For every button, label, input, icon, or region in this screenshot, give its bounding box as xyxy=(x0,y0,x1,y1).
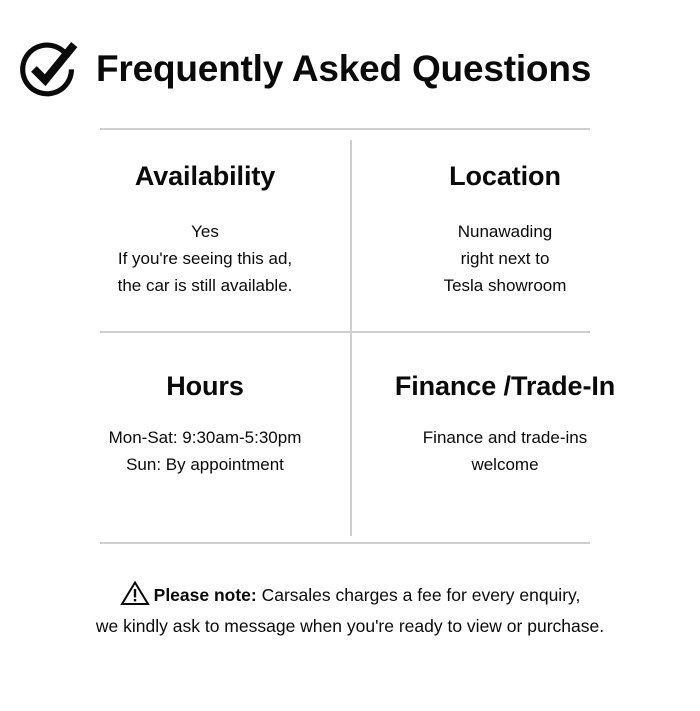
section-line: Nunawading xyxy=(355,218,655,245)
section-heading-hours: Hours xyxy=(55,372,355,402)
section-line: Finance and trade-ins xyxy=(355,424,655,451)
page-title: Frequently Asked Questions xyxy=(96,50,591,87)
divider-bottom xyxy=(100,542,590,544)
please-note-block: Please note: Carsales charges a fee for … xyxy=(0,580,700,642)
section-body-location: Nunawading right next to Tesla showroom xyxy=(355,218,655,299)
section-line: the car is still available. xyxy=(55,272,355,299)
section-heading-finance: Finance /Trade-In xyxy=(355,372,655,402)
section-line: Tesla showroom xyxy=(355,272,655,299)
divider-top xyxy=(100,128,590,130)
note-line-1: Please note: Carsales charges a fee for … xyxy=(0,580,700,611)
circled-check-icon xyxy=(18,38,78,98)
warning-triangle-icon xyxy=(120,580,150,606)
section-finance: Finance /Trade-In Finance and trade-ins … xyxy=(355,372,655,478)
note-strong-label: Please note: xyxy=(154,585,257,605)
section-line: If you're seeing this ad, xyxy=(55,245,355,272)
section-hours: Hours Mon-Sat: 9:30am-5:30pm Sun: By app… xyxy=(55,372,355,478)
faq-grid: Availability Yes If you're seeing this a… xyxy=(0,140,700,536)
section-heading-availability: Availability xyxy=(55,162,355,192)
section-availability: Availability Yes If you're seeing this a… xyxy=(55,162,355,299)
section-body-availability: Yes If you're seeing this ad, the car is… xyxy=(55,218,355,299)
note-line-2: we kindly ask to message when you're rea… xyxy=(0,611,700,642)
section-line: Sun: By appointment xyxy=(55,451,355,478)
section-line: welcome xyxy=(355,451,655,478)
note-line-1-rest: Carsales charges a fee for every enquiry… xyxy=(257,585,581,605)
header: Frequently Asked Questions xyxy=(18,36,682,100)
section-location: Location Nunawading right next to Tesla … xyxy=(355,162,655,299)
section-heading-location: Location xyxy=(355,162,655,192)
section-line: Mon-Sat: 9:30am-5:30pm xyxy=(55,424,355,451)
section-body-hours: Mon-Sat: 9:30am-5:30pm Sun: By appointme… xyxy=(55,424,355,478)
section-line: right next to xyxy=(355,245,655,272)
faq-card: Frequently Asked Questions Availability … xyxy=(0,0,700,711)
section-body-finance: Finance and trade-ins welcome xyxy=(355,424,655,478)
section-line: Yes xyxy=(55,218,355,245)
